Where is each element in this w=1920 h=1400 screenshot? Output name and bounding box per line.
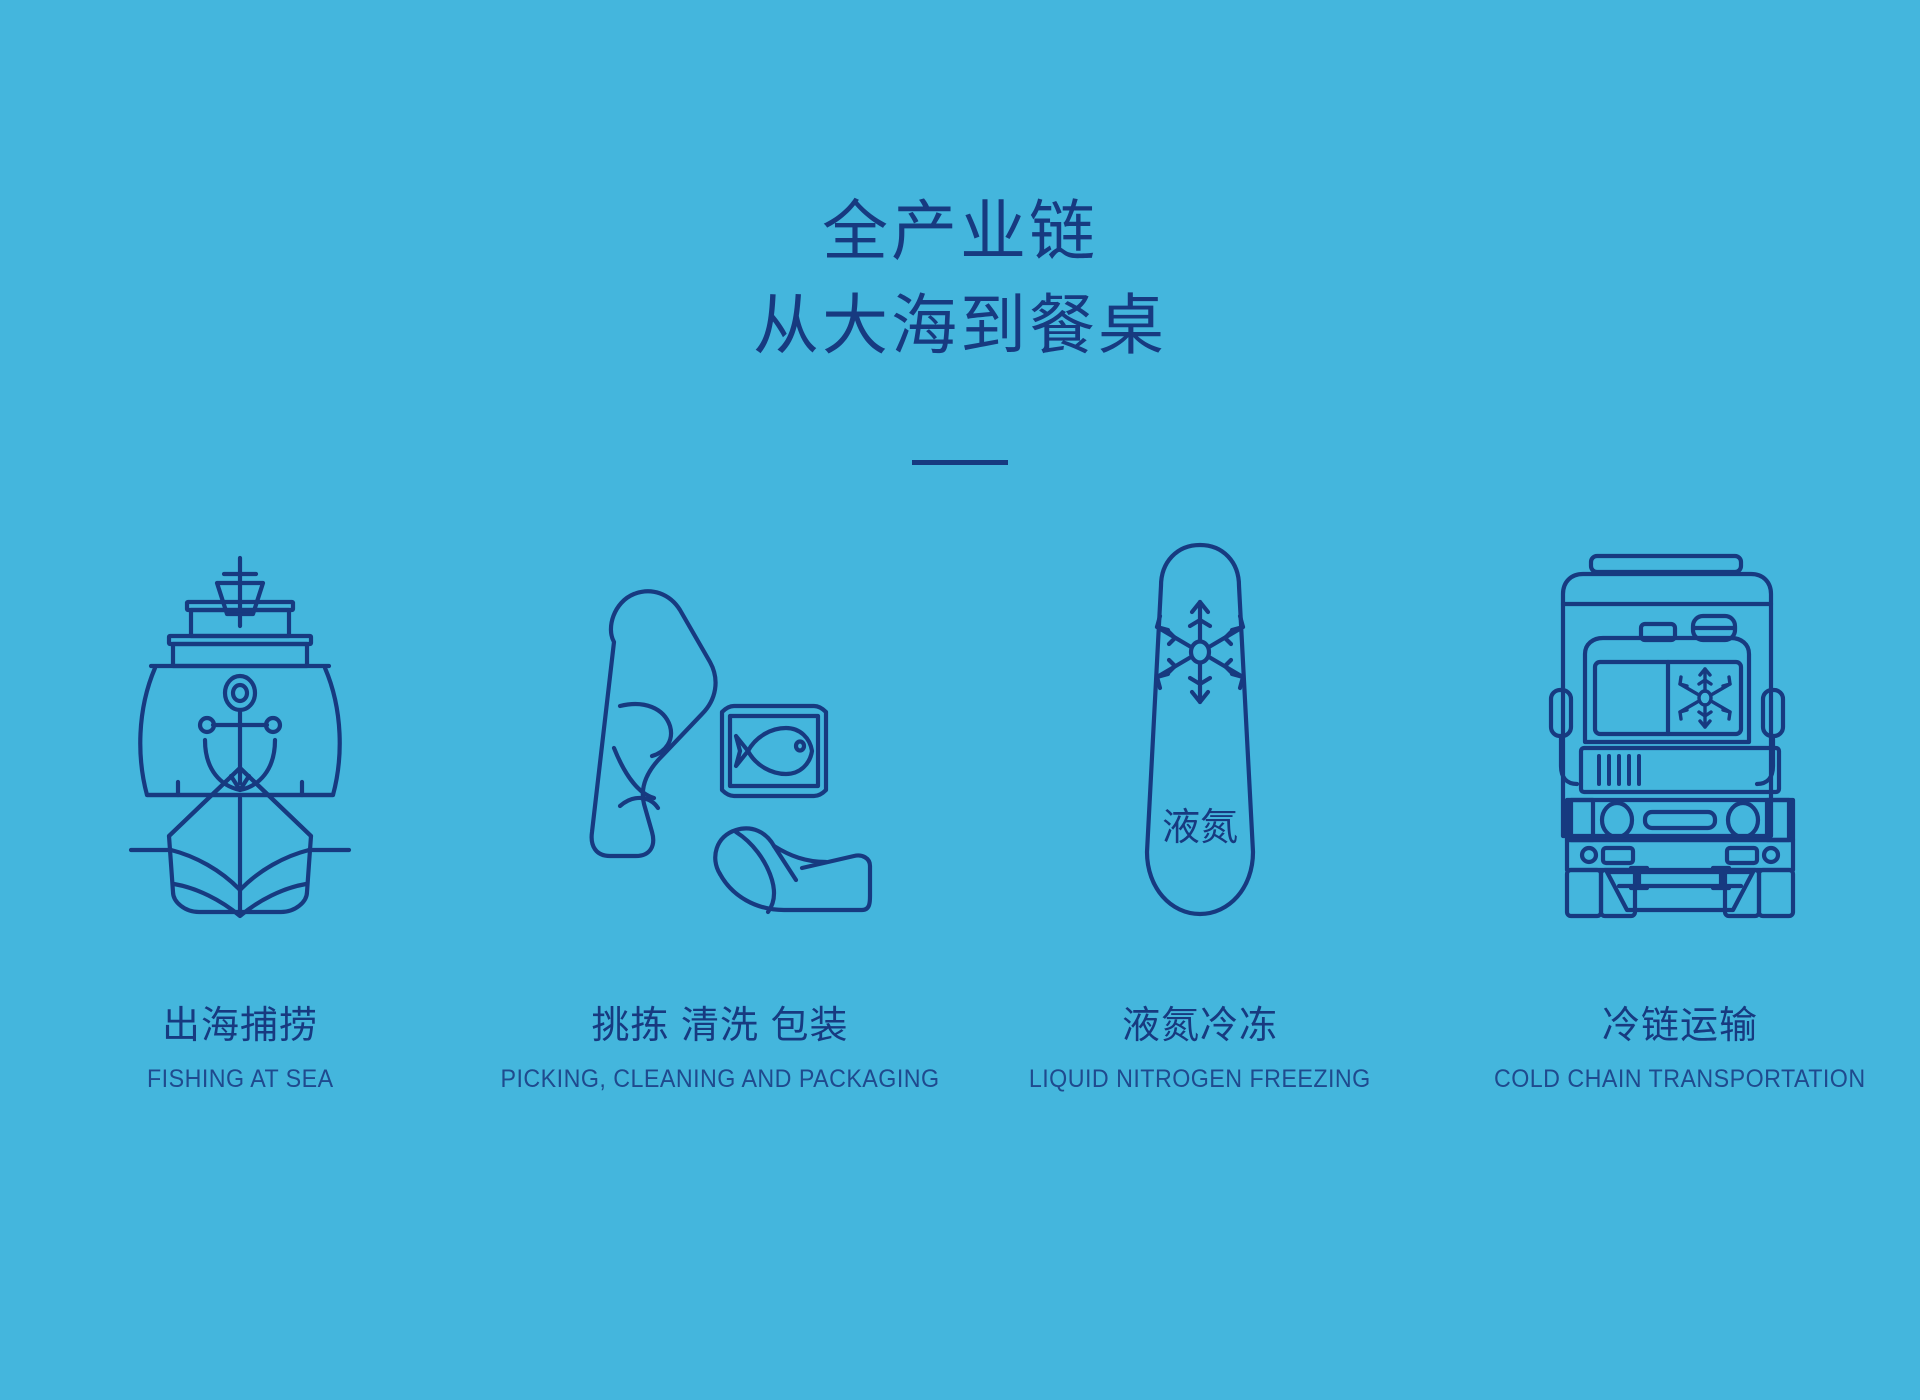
step-picking-cleaning-packaging: 挑拣 清洗 包装 PICKING, CLEANING AND PACKAGING [480, 530, 960, 1094]
step-label-en: FISHING AT SEA [147, 1064, 334, 1094]
step-label-en: PICKING, CLEANING AND PACKAGING [500, 1064, 939, 1094]
fishing-boat-icon [125, 530, 355, 920]
headline-divider-icon [912, 460, 1008, 465]
step-labels: 挑拣 清洗 包装 PICKING, CLEANING AND PACKAGING [484, 1004, 956, 1094]
step-label-cn: 液氮冷冻 [1016, 1004, 1384, 1050]
page-root: 全产业链 从大海到餐桌 [0, 0, 1920, 1400]
step-label-en: LIQUID NITROGEN FREEZING [1029, 1064, 1371, 1094]
nitrogen-tank-icon: 液氮 [1135, 530, 1265, 920]
headline-divider-wrap [0, 452, 1920, 470]
step-fishing-at-sea: 出海捕捞 FISHING AT SEA [0, 530, 480, 1094]
step-labels: 液氮冷冻 LIQUID NITROGEN FREEZING [1016, 1004, 1384, 1094]
step-liquid-nitrogen-freezing: 液氮 液氮冷冻 LIQUID NITROGEN FREEZING [960, 530, 1440, 1094]
step-label-en: COLD CHAIN TRANSPORTATION [1494, 1064, 1866, 1094]
step-label-cn: 出海捕捞 [140, 1004, 341, 1050]
step-labels: 冷链运输 COLD CHAIN TRANSPORTATION [1480, 1004, 1880, 1094]
nitrogen-tank-text: 液氮 [1162, 807, 1238, 849]
headline-block: 全产业链 从大海到餐桌 [0, 185, 1920, 372]
step-label-cn: 挑拣 清洗 包装 [484, 1004, 956, 1050]
step-label-cn: 冷链运输 [1480, 1004, 1880, 1050]
step-labels: 出海捕捞 FISHING AT SEA [140, 1004, 341, 1094]
headline-line-2: 从大海到餐桌 [0, 279, 1920, 373]
process-steps-row: 出海捕捞 FISHING AT SEA [0, 530, 1920, 1094]
hands-packaged-fish-icon [570, 530, 870, 920]
refrigerated-truck-icon [1545, 530, 1815, 920]
headline-line-1: 全产业链 [0, 185, 1920, 279]
step-cold-chain-transportation: 冷链运输 COLD CHAIN TRANSPORTATION [1440, 530, 1920, 1094]
